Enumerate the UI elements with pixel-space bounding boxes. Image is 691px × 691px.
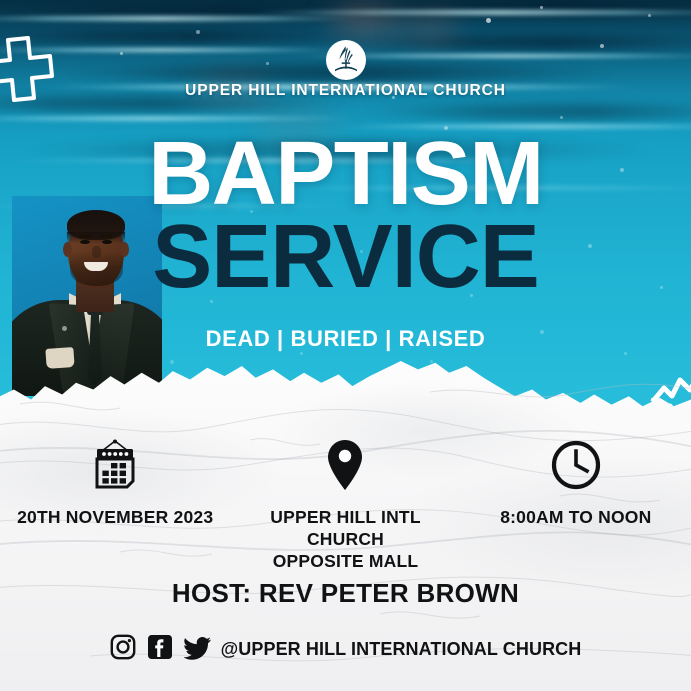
social-footer: @UPPER HILL INTERNATIONAL CHURCH (0, 634, 691, 665)
event-details-row: 20TH NOVEMBER 2023 UPPER HILL INTL CHURC… (0, 438, 691, 572)
church-logo-icon (326, 40, 366, 80)
tagline: DEAD | BURIED | RAISED (0, 326, 691, 352)
instagram-icon[interactable] (110, 634, 136, 665)
clock-icon (550, 438, 602, 492)
calendar-icon (91, 438, 139, 492)
headline-line-1: BAPTISM (0, 131, 691, 217)
decor-cross-shape-icon (0, 36, 56, 113)
detail-time: 8:00AM TO NOON (461, 438, 691, 528)
detail-location-line-1: UPPER HILL INTL CHURCH (270, 507, 420, 549)
detail-time-line-1: 8:00AM TO NOON (500, 507, 651, 527)
facebook-icon[interactable] (147, 634, 173, 665)
detail-date-line-1: 20TH NOVEMBER 2023 (17, 507, 213, 527)
organization-name: UPPER HILL INTERNATIONAL CHURCH (0, 82, 691, 100)
twitter-icon[interactable] (184, 634, 212, 665)
detail-location-line-2: OPPOSITE MALL (230, 550, 460, 572)
headline-line-2: SERVICE (0, 214, 691, 300)
detail-date: 20TH NOVEMBER 2023 (0, 438, 230, 528)
baptism-service-flyer: UPPER HILL INTERNATIONAL CHURCH BAPTISM … (0, 0, 691, 691)
location-pin-icon (325, 438, 365, 492)
social-handle: @UPPER HILL INTERNATIONAL CHURCH (221, 639, 582, 660)
host-line: HOST: REV PETER BROWN (0, 578, 691, 609)
detail-location: UPPER HILL INTL CHURCH OPPOSITE MALL (230, 438, 460, 572)
